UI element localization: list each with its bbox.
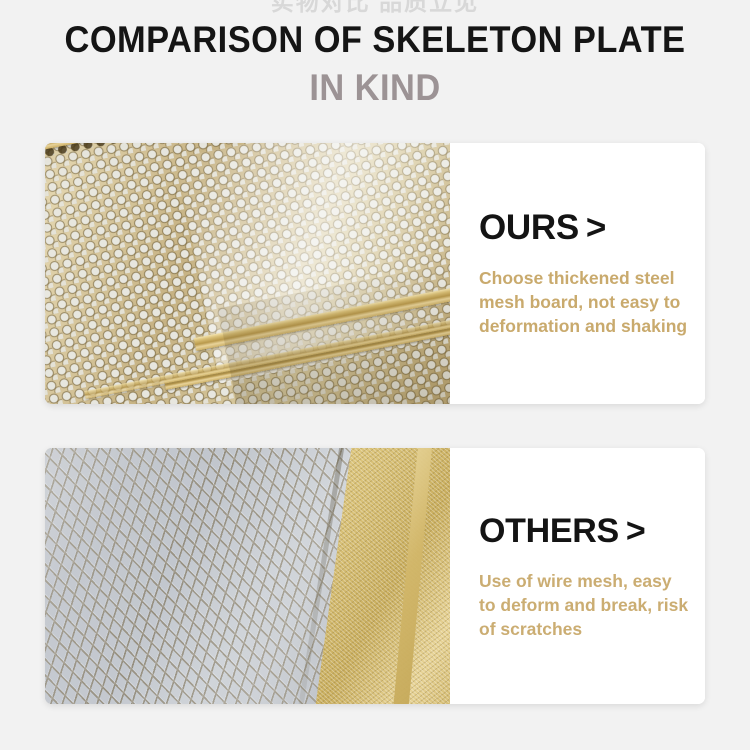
- card-text-others: OTHERS> Use of wire mesh, easy to deform…: [450, 448, 705, 704]
- perforated-plate-illustration: [45, 143, 450, 404]
- card-description-ours: Choose thickened steel mesh board, not e…: [479, 266, 691, 338]
- cutoff-header-text: 实物对比 品质立见: [0, 0, 750, 13]
- card-heading-others: OTHERS>: [479, 512, 691, 550]
- chevron-right-icon: >: [586, 208, 606, 247]
- page-title: COMPARISON OF SKELETON PLATE IN KIND: [0, 18, 750, 111]
- comparison-card-others[interactable]: OTHERS> Use of wire mesh, easy to deform…: [45, 448, 705, 704]
- card-heading-ours: OURS>: [479, 209, 691, 247]
- card-heading-label-ours: OURS: [479, 208, 579, 247]
- product-image-others: [45, 448, 450, 704]
- title-main-line: COMPARISON OF SKELETON PLATE: [26, 18, 724, 62]
- card-text-ours: OURS> Choose thickened steel mesh board,…: [450, 143, 705, 404]
- title-subtitle-line: IN KIND: [26, 65, 724, 111]
- wire-mesh-illustration: [45, 448, 450, 704]
- card-heading-label-others: OTHERS: [479, 512, 619, 550]
- card-description-others: Use of wire mesh, easy to deform and bre…: [479, 569, 691, 641]
- product-image-ours: [45, 143, 450, 404]
- chevron-right-icon: >: [626, 512, 646, 550]
- cutoff-header-strip: 实物对比 品质立见: [0, 0, 750, 13]
- comparison-card-ours[interactable]: OURS> Choose thickened steel mesh board,…: [45, 143, 705, 404]
